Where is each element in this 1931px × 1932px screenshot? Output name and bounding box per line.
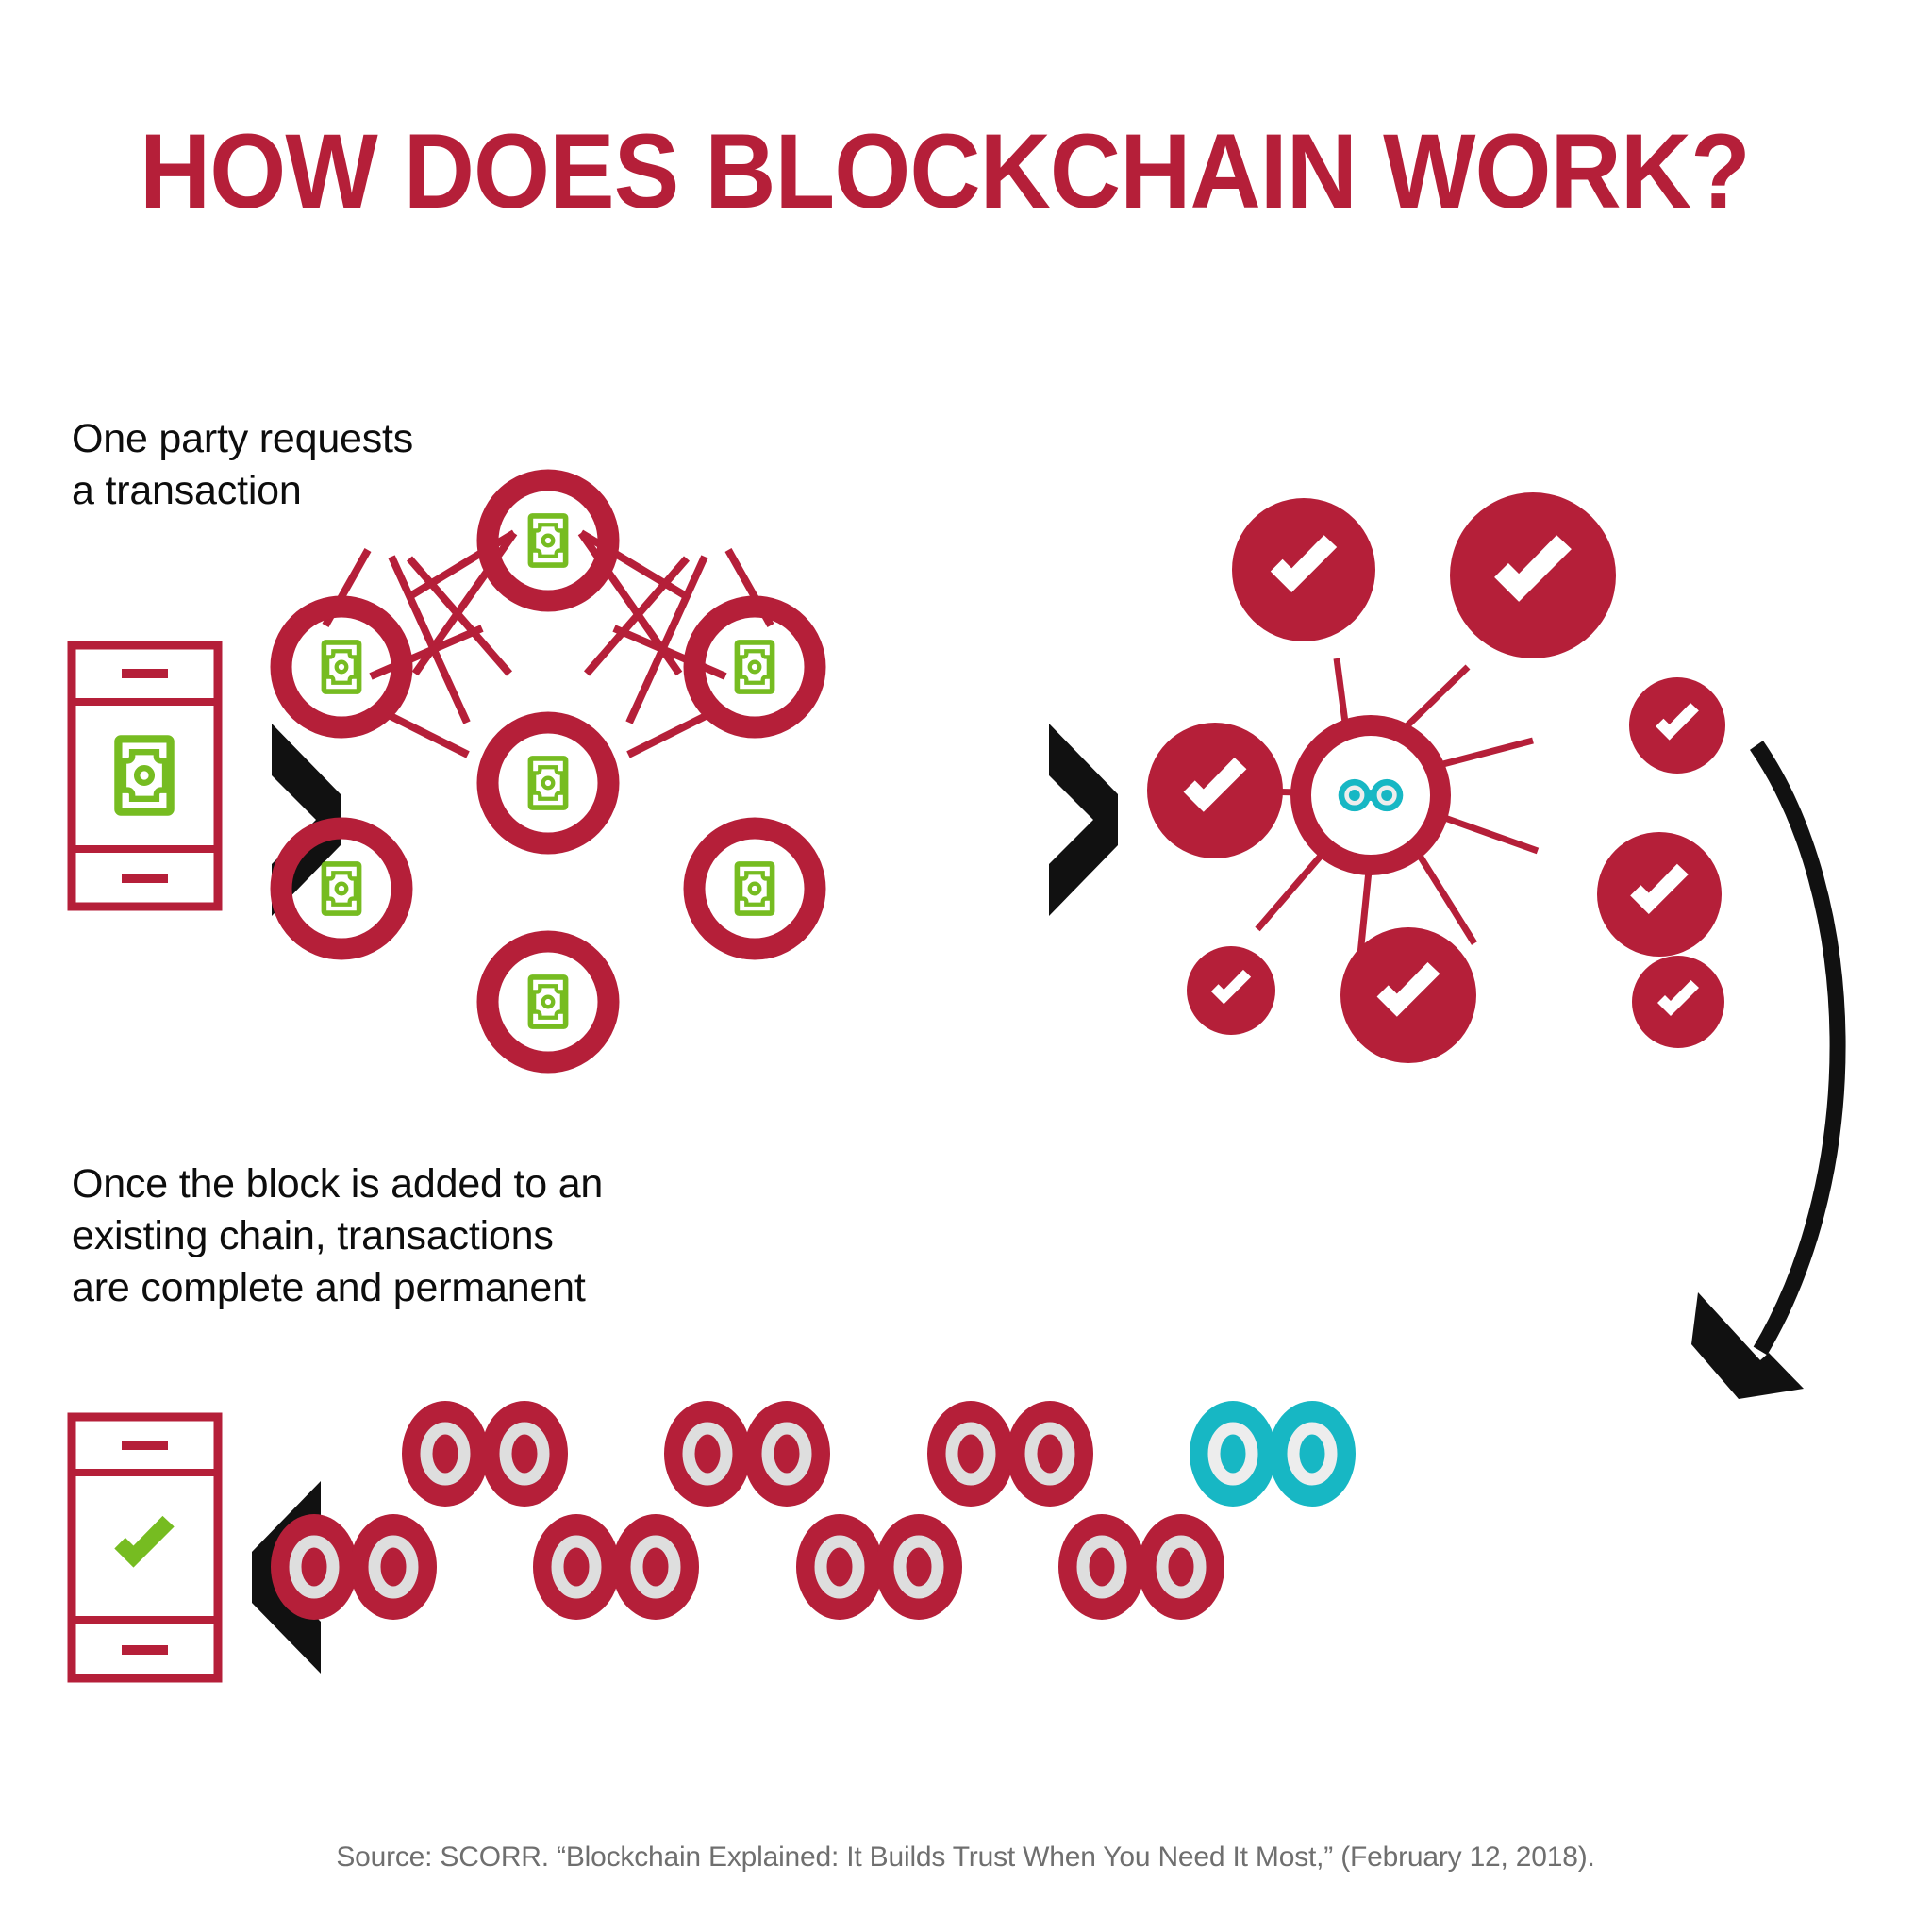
network-node-left-lower: [281, 828, 402, 949]
validation-star-network-icon: [1147, 492, 1725, 1063]
validation-check-6: [1340, 927, 1476, 1063]
chain-link-7: [1058, 1514, 1224, 1620]
phone-with-money-icon: [72, 645, 218, 907]
chain-link-4: [664, 1401, 830, 1507]
network-edges: [325, 533, 771, 755]
source-citation: Source: SCORR. “Blockchain Explained: It…: [0, 1841, 1931, 1874]
block-center-node: [1301, 725, 1440, 865]
validation-check-2: [1450, 492, 1616, 658]
validation-check-4: [1597, 832, 1722, 957]
network-node-bottom: [488, 941, 608, 1062]
validation-check-1: [1232, 498, 1375, 641]
chain-link-5: [796, 1514, 962, 1620]
chevron-right-icon-1: [272, 724, 341, 916]
chain-link-2: [402, 1401, 568, 1507]
validation-edges: [1212, 658, 1538, 955]
validation-check-5: [1632, 956, 1724, 1048]
network-node-left-upper: [281, 607, 402, 727]
validation-check-3: [1629, 677, 1725, 774]
network-node-center: [488, 723, 608, 843]
curved-arrow-down-icon: [1691, 745, 1838, 1399]
validation-check-8: [1147, 723, 1283, 858]
blockchain-chain: [271, 1401, 1356, 1620]
peer-to-peer-network-icon: [281, 480, 815, 1062]
step4-caption: Once the block is added to an existing c…: [72, 1158, 603, 1314]
network-node-right-upper: [694, 607, 815, 727]
infographic-canvas: HOW DOES BLOCKCHAIN WORK? One party requ…: [0, 0, 1931, 1932]
phone-with-checkmark-icon: [72, 1417, 218, 1678]
chain-link-6: [927, 1401, 1093, 1507]
network-node-top: [488, 480, 608, 601]
step1-caption: One party requests a transaction: [72, 413, 413, 517]
chevron-left-icon: [252, 1481, 321, 1674]
chevron-right-icon-2: [1049, 724, 1118, 916]
chain-link-1: [271, 1514, 437, 1620]
validation-check-7: [1187, 946, 1275, 1035]
diagram-graphics: [0, 0, 1931, 1932]
new-block-link-icon: [1190, 1401, 1356, 1507]
chain-link-3: [533, 1514, 699, 1620]
network-node-right-lower: [694, 828, 815, 949]
page-title: HOW DOES BLOCKCHAIN WORK?: [140, 119, 1750, 225]
